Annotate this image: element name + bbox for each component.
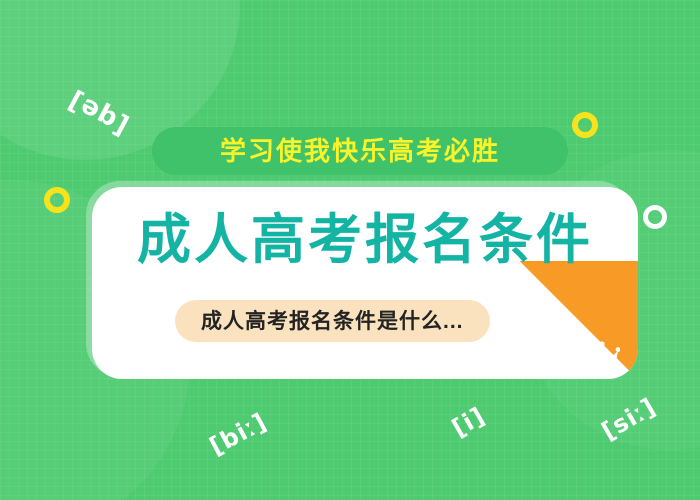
tagline-text: 学习使我快乐高考必胜 — [220, 138, 500, 164]
decorative-ring-left — [44, 187, 70, 213]
poster-canvas: [qe] [biː] [i] [siː] 学习使我快乐高考必胜 成人高考报名条件… — [0, 0, 700, 500]
subtitle-pill: 成人高考报名条件是什么... — [175, 300, 490, 342]
phonetic-i-text: [i] — [447, 402, 490, 443]
phonetic-bi-text: [biː] — [205, 407, 272, 460]
decorative-ring-right — [643, 205, 667, 229]
decorative-ring-top — [572, 112, 598, 138]
title-card: 成人高考报名条件 成人高考报名条件是什么... — [92, 187, 638, 379]
crown-icon — [584, 341, 620, 371]
phonetic-si-text: [siː] — [597, 392, 661, 445]
tagline-banner: 学习使我快乐高考必胜 — [152, 127, 568, 175]
phonetic-qe-text: [qe] — [63, 85, 134, 142]
corner-accent — [520, 261, 638, 379]
subtitle-text: 成人高考报名条件是什么... — [201, 311, 464, 332]
page-title: 成人高考报名条件 — [92, 213, 638, 267]
